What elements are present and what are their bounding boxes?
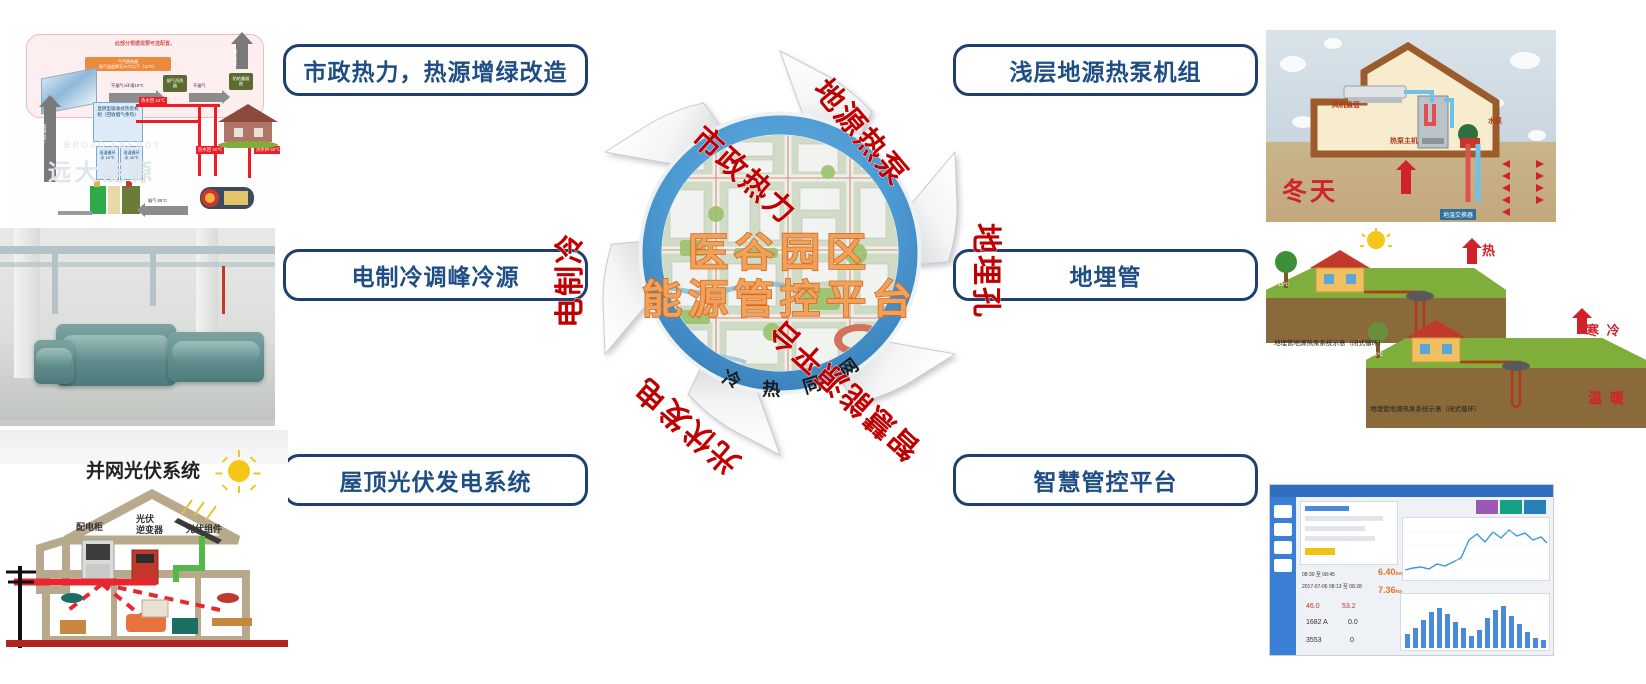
label-text: 屋顶光伏发电系统 xyxy=(340,463,532,497)
image-electric-chiller-plant xyxy=(0,228,275,426)
svg-text:15℃: 15℃ xyxy=(1372,352,1384,358)
season-label: 冬天 xyxy=(1282,172,1338,208)
flue-gas-return-label: 烟气 85℃ xyxy=(148,198,167,204)
dashboard-sidebar xyxy=(1270,497,1296,655)
image-gshp-winter: 风机盘管 热泵主机 水泵 冬天 地温交换器 xyxy=(1266,30,1556,222)
image-energy-dashboard: 08:30 至 08:45 6.40kw 2017-07-06 08:13 至 … xyxy=(1269,484,1554,656)
drop-pipe-1 xyxy=(52,254,58,314)
red-pipe xyxy=(222,266,225,314)
floor-edge xyxy=(0,420,275,426)
building-icon xyxy=(210,98,280,148)
watermark-text: 远大能源 xyxy=(48,153,156,187)
svg-text:15℃: 15℃ xyxy=(1278,282,1290,288)
pv-panel-label: 光伏组件 xyxy=(186,522,222,535)
dashboard-titlebar xyxy=(1270,485,1553,497)
house-cutaway-icon xyxy=(6,478,288,648)
ceiling-pipe-2 xyxy=(0,262,275,267)
image-grid-connected-pv-system: 并网光伏系统 xyxy=(0,430,288,650)
optional-config-note: 此部分根据需要可选配置。 xyxy=(115,40,175,47)
metric-6: 0 xyxy=(1350,637,1354,644)
snow-blob xyxy=(1528,130,1546,141)
flow-arrow-1-label: 干烟气>环境10℃ xyxy=(111,83,144,89)
chiller-unit-1 xyxy=(56,324,176,386)
label-text: 地埋管 xyxy=(1070,258,1142,292)
fan-coil-label: 风机盘管 xyxy=(1332,100,1360,110)
pv-cabinet-label: 配电柜 xyxy=(76,520,103,533)
heat-pump-label: 热泵主机 xyxy=(1390,136,1418,146)
ceiling-pipe-1 xyxy=(0,246,275,254)
chiller-unit-2 xyxy=(168,332,264,382)
kpi-chip-purple xyxy=(1476,500,1498,514)
chiller-unit-3 xyxy=(34,340,74,384)
metric-2: 53.2 xyxy=(1342,603,1356,610)
sidebar-tile[interactable] xyxy=(1274,523,1292,536)
ground-loop-arrows-icon xyxy=(1498,158,1552,220)
stack-arrow-label: 排烟 85℃ xyxy=(41,124,47,144)
flow-arrow-2-label: 干烟气 xyxy=(193,83,206,89)
metric-4: 0.0 xyxy=(1348,619,1358,626)
sidebar-tile[interactable] xyxy=(1274,559,1292,572)
cold-word: 寒 冷 xyxy=(1586,320,1622,339)
bar-chart-card xyxy=(1400,593,1550,651)
hot-water-return-44-label: 热水回 44℃ xyxy=(139,97,167,105)
flue-gas-return-arrow xyxy=(144,206,188,215)
watermark-en-text: BROAD ENERGY xyxy=(64,140,162,150)
sun-ray xyxy=(238,450,240,457)
image-buried-pipe-system: 15℃ 热 15℃ 寒 冷 温 暖 地埋管地源热泵系统示意（闭式循环） 地埋管地… xyxy=(1266,228,1646,433)
center-title-line2: 能源管控平台 xyxy=(642,278,918,322)
center-title-line1: 医谷园区 xyxy=(688,231,872,275)
hot-water-pipe-2 xyxy=(136,120,198,123)
hot-word: 热 xyxy=(1482,240,1495,259)
time-range-1: 08:30 至 08:45 xyxy=(1302,571,1335,578)
time-range-2: 2017-07-06 08:13 至 08:28 xyxy=(1302,583,1362,590)
drop-pipe-2 xyxy=(150,254,156,306)
anti-condensation-chimney-chip: 防结露烟囱 xyxy=(229,73,253,90)
label-text: 电制冷调峰冷源 xyxy=(352,258,520,292)
bar-chart xyxy=(1401,594,1549,650)
line-chart xyxy=(1403,518,1549,580)
warm-word: 温 暖 xyxy=(1588,388,1626,408)
sidebar-tile[interactable] xyxy=(1274,541,1292,554)
boiler-icon xyxy=(194,182,260,216)
pv-inverter-label: 光伏 逆变器 xyxy=(136,514,182,536)
value-2: 7.36kw xyxy=(1378,585,1402,595)
kpi-chip-teal xyxy=(1500,500,1522,514)
segment-label-buried-hole: 地埋孔 xyxy=(969,223,1002,319)
water-pump-label: 水泵 xyxy=(1488,116,1502,126)
buried-caption-1: 地埋管地源热泵系统示意（闭式循环） xyxy=(1274,340,1385,349)
base-bar xyxy=(58,211,92,215)
buried-caption-2: 地埋管地源热泵系统示意（闭式循环） xyxy=(1370,406,1481,415)
form-card xyxy=(1300,501,1398,565)
metric-1: 46.0 xyxy=(1306,603,1320,610)
ground-exchanger-label: 地温交换器 xyxy=(1440,209,1476,220)
sun-ray xyxy=(254,473,261,475)
line-chart-card xyxy=(1402,517,1550,581)
value-1: 6.40kw xyxy=(1378,567,1402,577)
sun-ray xyxy=(216,473,223,475)
metric-5: 3553 xyxy=(1306,637,1322,644)
hot-water-pipe-3 xyxy=(198,104,201,176)
kpi-chip-blue xyxy=(1524,500,1546,514)
energy-cycle-diagram: 医谷园区 能源管控平台 冷 热 同 网 市政热力 地源热泵 地埋孔 智慧能源平台… xyxy=(520,18,1040,488)
metric-3: 1682 A xyxy=(1306,619,1328,626)
flue-gas-exhaust-label: 烟气排放 xyxy=(232,49,238,66)
label-text: 智慧管控平台 xyxy=(1034,463,1178,497)
sidebar-tile[interactable] xyxy=(1274,505,1292,518)
segment-label-electric-cooling: 电制冷 xyxy=(554,232,587,328)
flue-gas-reheater-chip: 烟气再热器 xyxy=(163,75,187,92)
image-municipal-heat-flow: 此部分根据需要可选配置。 气气换热器 烟气温度降至35℃以下（10℃） 干烟气>… xyxy=(8,28,280,220)
gas-gas-exchanger-chip: 气气换热器 烟气温度降至35℃以下（10℃） xyxy=(85,57,171,71)
